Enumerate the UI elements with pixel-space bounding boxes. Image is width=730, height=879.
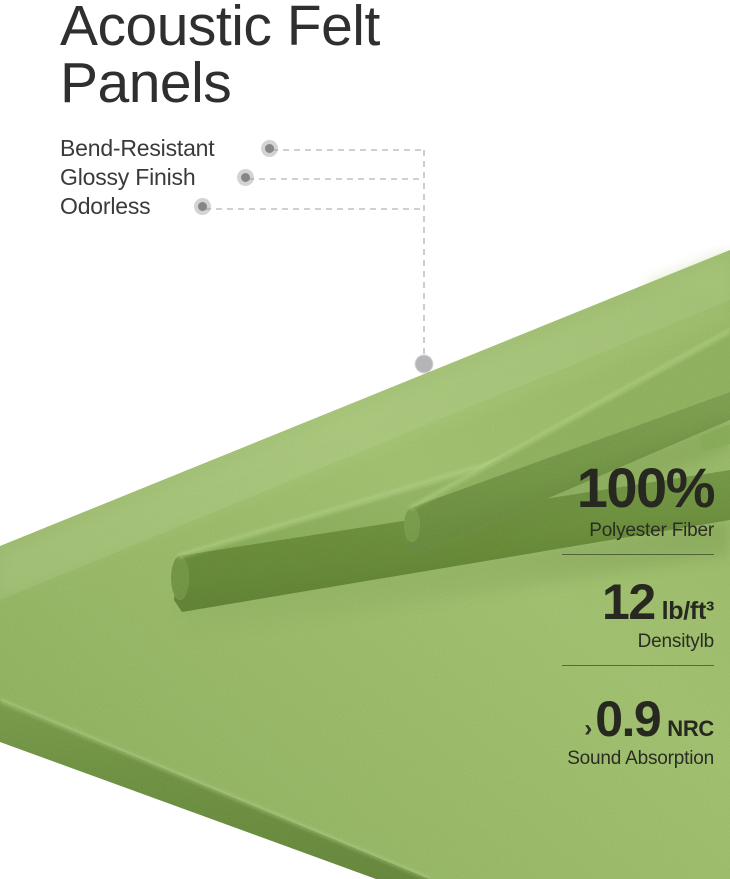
- spec-unit: lb/ft³: [662, 599, 714, 624]
- feature-item-bend-resistant: Bend-Resistant: [60, 134, 214, 163]
- greater-than-icon: ›: [584, 717, 592, 741]
- feature-label: Bend-Resistant: [60, 134, 214, 163]
- spec-number: 12: [602, 577, 655, 627]
- spec-label: Sound Absorption: [567, 748, 714, 770]
- spec-value: › 0.9 NRC: [567, 694, 714, 744]
- spec-number: 100%: [577, 460, 714, 516]
- spec-divider: [562, 554, 714, 555]
- bullet-dot-icon: [237, 169, 254, 186]
- feature-label: Glossy Finish: [60, 163, 195, 192]
- spec-sound-absorption: › 0.9 NRC Sound Absorption: [567, 694, 714, 770]
- feature-item-glossy-finish: Glossy Finish: [60, 163, 214, 192]
- spec-label: Polyester Fiber: [562, 520, 714, 542]
- spec-unit: NRC: [667, 718, 714, 740]
- product-marketing-image: Acoustic Felt Panels Bend-Resistant Glos…: [0, 0, 730, 879]
- spec-polyester-fiber: 100% Polyester Fiber: [562, 460, 714, 555]
- feature-label: Odorless: [60, 192, 150, 221]
- spec-divider: [562, 665, 714, 666]
- feature-item-odorless: Odorless: [60, 192, 214, 221]
- feature-list: Bend-Resistant Glossy Finish Odorless: [60, 134, 214, 221]
- spec-value: 12 lb/ft³: [562, 577, 714, 627]
- spec-value: 100%: [562, 460, 714, 516]
- spec-label: Densitylb: [562, 631, 714, 653]
- spec-number: 0.9: [595, 694, 660, 744]
- spec-density: 12 lb/ft³ Densitylb: [562, 577, 714, 666]
- bullet-dot-icon: [194, 198, 211, 215]
- bullet-dot-icon: [261, 140, 278, 157]
- page-title: Acoustic Felt Panels: [60, 0, 500, 112]
- callout-endpoint-dot-icon: [415, 355, 433, 373]
